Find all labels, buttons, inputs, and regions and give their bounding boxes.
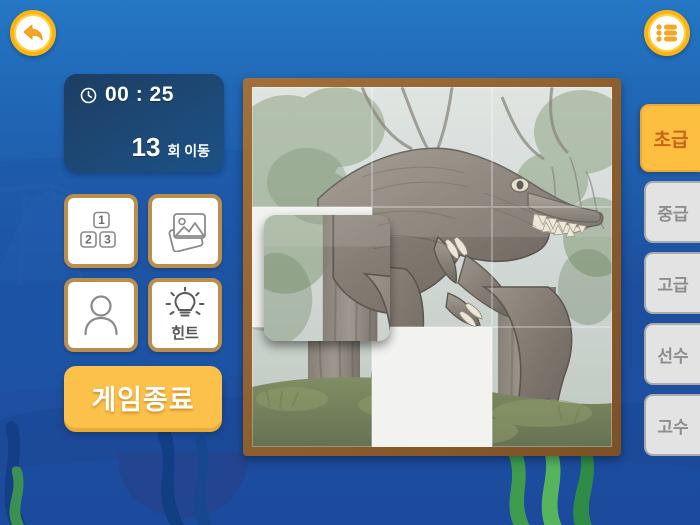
- puzzle-tile-r1-c1[interactable]: [252, 87, 372, 207]
- difficulty-tab-label: 고수: [657, 413, 688, 438]
- end-game-label: 게임종료: [91, 378, 194, 417]
- puzzle-tile-r3-c1[interactable]: [252, 327, 372, 447]
- lightbulb-icon: [165, 287, 205, 321]
- dragged-puzzle-tile[interactable]: [264, 215, 390, 341]
- difficulty-tab-4[interactable]: 선수: [644, 323, 700, 385]
- hint-label: 힌트: [171, 322, 199, 343]
- difficulty-tab-label: 선수: [657, 342, 688, 367]
- game-screen: 00 : 25 13 회 이동 1 2 3: [0, 0, 700, 525]
- kelp-dark-far-left: [0, 400, 70, 525]
- puzzle-board-frame: [243, 78, 621, 456]
- gallery-button[interactable]: [148, 194, 222, 268]
- puzzle-tile-r3-c3[interactable]: [492, 327, 612, 447]
- end-game-button[interactable]: 게임종료: [64, 366, 222, 428]
- timer-value: 00 : 25: [105, 83, 174, 107]
- difficulty-tab-2[interactable]: 중급: [644, 181, 700, 243]
- difficulty-tab-label: 고급: [657, 271, 688, 296]
- numbers-button[interactable]: 1 2 3: [64, 194, 138, 268]
- puzzle-tile-r3-c2[interactable]: [372, 327, 492, 447]
- background-seafloor-2: [0, 455, 700, 525]
- numbers-123-icon: 1 2 3: [79, 211, 123, 251]
- timer-row: 00 : 25: [76, 83, 212, 107]
- hint-button[interactable]: 힌트: [148, 278, 222, 352]
- difficulty-tab-label: 초급: [654, 125, 689, 152]
- kelp-dark-left: [140, 420, 230, 525]
- info-panel: 00 : 25 13 회 이동: [64, 74, 224, 172]
- difficulty-tab-5[interactable]: 고수: [644, 394, 700, 456]
- profile-button[interactable]: [64, 278, 138, 352]
- back-button-inner: [16, 16, 50, 50]
- puzzle-tile-r1-c2[interactable]: [372, 87, 492, 207]
- menu-button-inner: [650, 16, 684, 50]
- difficulty-tab-1[interactable]: 초급: [640, 104, 700, 172]
- moves-count: 13: [132, 132, 161, 163]
- image-gallery-icon: [162, 210, 208, 252]
- moves-row: 13 회 이동: [76, 132, 212, 163]
- svg-text:3: 3: [104, 233, 111, 247]
- difficulty-tabs: 초급중급고급선수고수: [644, 104, 700, 465]
- puzzle-tile-r2-c3[interactable]: [492, 207, 612, 327]
- back-button[interactable]: [10, 10, 56, 56]
- difficulty-tab-3[interactable]: 고급: [644, 252, 700, 314]
- back-arrow-icon: [22, 23, 44, 43]
- clock-icon: [80, 87, 97, 104]
- puzzle-tile-r1-c3[interactable]: [492, 87, 612, 207]
- seaweed-green-left: [0, 455, 60, 525]
- shell-silhouette: [118, 452, 248, 518]
- tool-button-grid: 1 2 3: [64, 194, 222, 352]
- moves-label: 회 이동: [167, 141, 210, 161]
- list-menu-icon: [655, 23, 679, 43]
- svg-text:2: 2: [85, 233, 92, 247]
- difficulty-tab-label: 중급: [657, 200, 688, 225]
- menu-button[interactable]: [644, 10, 690, 56]
- svg-text:1: 1: [98, 213, 105, 227]
- puzzle-tile-r2-c2[interactable]: [372, 207, 492, 327]
- puzzle-board[interactable]: [252, 87, 612, 447]
- person-icon: [81, 294, 121, 336]
